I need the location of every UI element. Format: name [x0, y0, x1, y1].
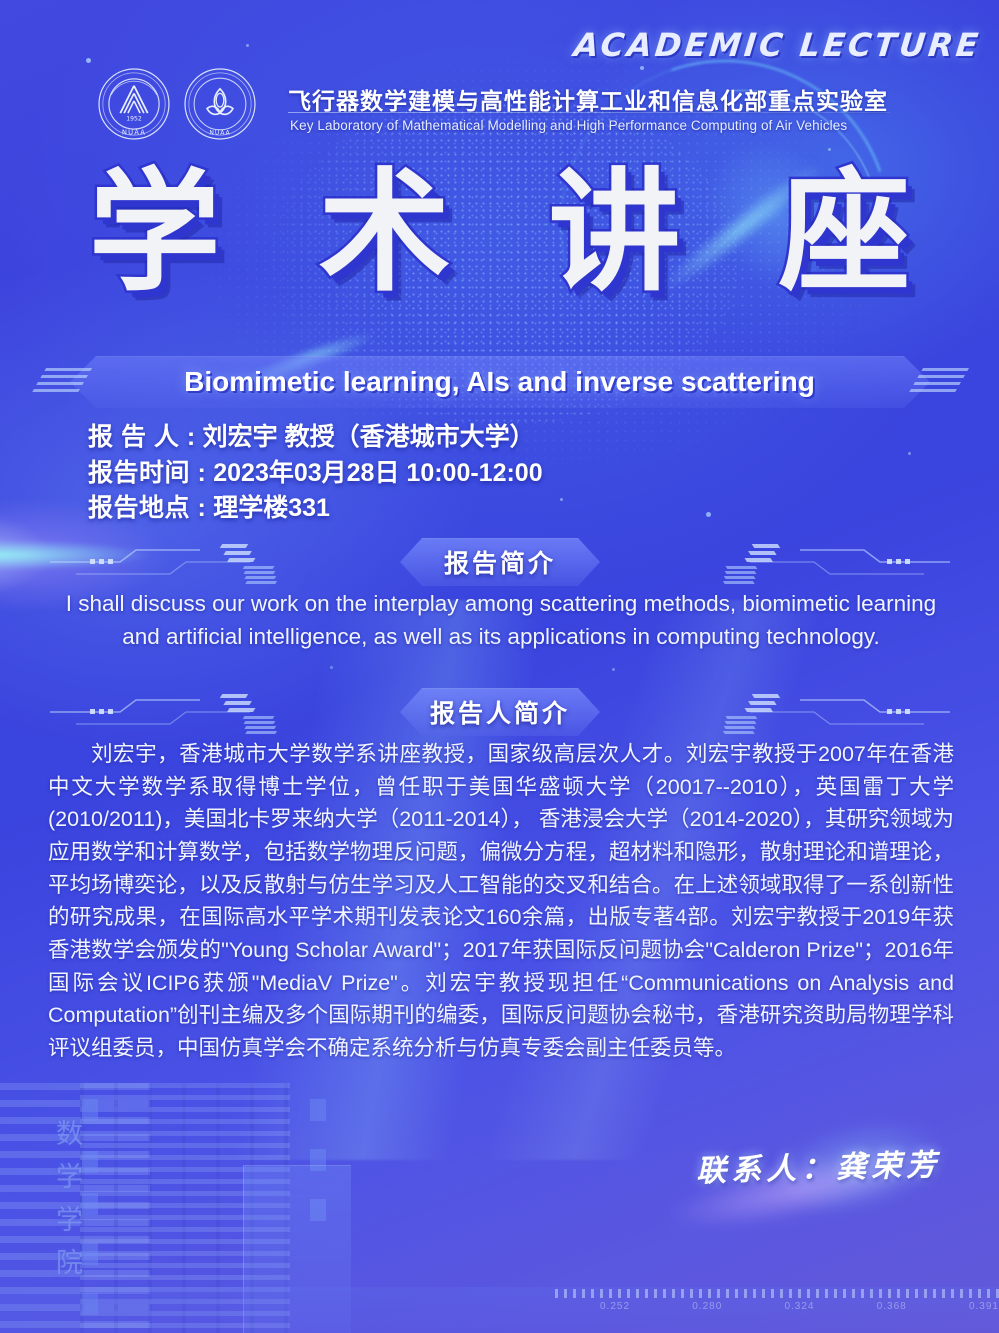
header-divider: [288, 112, 890, 113]
lab-title-english: Key Laboratory of Mathematical Modelling…: [290, 118, 847, 133]
academic-lecture-eyebrow: ACADEMIC LECTURE: [572, 26, 983, 64]
time-value: 2023年03月28日 10:00-12:00: [213, 459, 542, 487]
footer-data-value: 0.391: [969, 1301, 999, 1312]
svg-text:1952: 1952: [126, 116, 142, 123]
page-title: 学 术 讲 座: [0, 164, 999, 303]
footer-data-value: 0.324: [784, 1301, 814, 1312]
abstract-section-banner: 报告简介: [60, 538, 940, 586]
time-row: 报告时间 : 2023年03月28日 10:00-12:00: [88, 456, 543, 492]
footer-data-strip: 0.252 0.280 0.324 0.368 0.391: [0, 1287, 999, 1333]
place-row: 报告地点 : 理学楼331: [88, 491, 543, 527]
poster-header: ACADEMIC LECTURE 1952 NUAA: [0, 0, 999, 160]
lecture-subtitle-banner: Biomimetic learning, AIs and inverse sca…: [48, 356, 951, 408]
place-label: 报告地点 :: [88, 494, 206, 522]
lab-title-chinese: 飞行器数学建模与高性能计算工业和信息化部重点实验室: [288, 82, 888, 116]
lecture-info-block: 报 告 人 : 刘宏宇 教授（香港城市大学） 报告时间 : 2023年03月28…: [88, 420, 543, 527]
svg-text:NUAA: NUAA: [122, 128, 146, 136]
bio-section-banner: 报告人简介: [60, 688, 940, 736]
abstract-heading: 报告简介: [60, 538, 940, 586]
poster-root: 数学学院 0.252 0.280 0.324 0.368 0.391 ACADE…: [0, 0, 999, 1333]
lecture-subtitle: Biomimetic learning, AIs and inverse sca…: [48, 356, 951, 408]
nuaa-institute-seal-logo-icon: NUAA: [182, 66, 258, 142]
nuaa-seal-logo-icon: 1952 NUAA: [96, 66, 172, 142]
svg-text:NUAA: NUAA: [209, 129, 230, 136]
window-block-decoration: [82, 1099, 98, 1121]
window-block-decoration: [310, 1099, 326, 1121]
speaker-row: 报 告 人 : 刘宏宇 教授（香港城市大学）: [88, 420, 543, 456]
place-value: 理学楼331: [213, 494, 330, 522]
speaker-label: 报 告 人 :: [88, 423, 196, 451]
bio-heading: 报告人简介: [60, 688, 940, 736]
footer-data-value: 0.252: [600, 1301, 630, 1312]
logo-group: 1952 NUAA NUAA: [96, 66, 258, 142]
bio-body: 刘宏宇，香港城市大学数学系讲座教授，国家级高层次人才。刘宏宇教授于2007年在香…: [48, 738, 954, 1065]
time-label: 报告时间 :: [88, 459, 206, 487]
abstract-body: I shall discuss our work on the interpla…: [58, 588, 944, 654]
school-watermark-label: 数学学院: [48, 1119, 87, 1291]
speaker-value: 刘宏宇 教授（香港城市大学）: [203, 423, 535, 451]
contact-person: 联系人：龚荣芳: [695, 1140, 941, 1190]
footer-data-value: 0.368: [877, 1301, 907, 1312]
